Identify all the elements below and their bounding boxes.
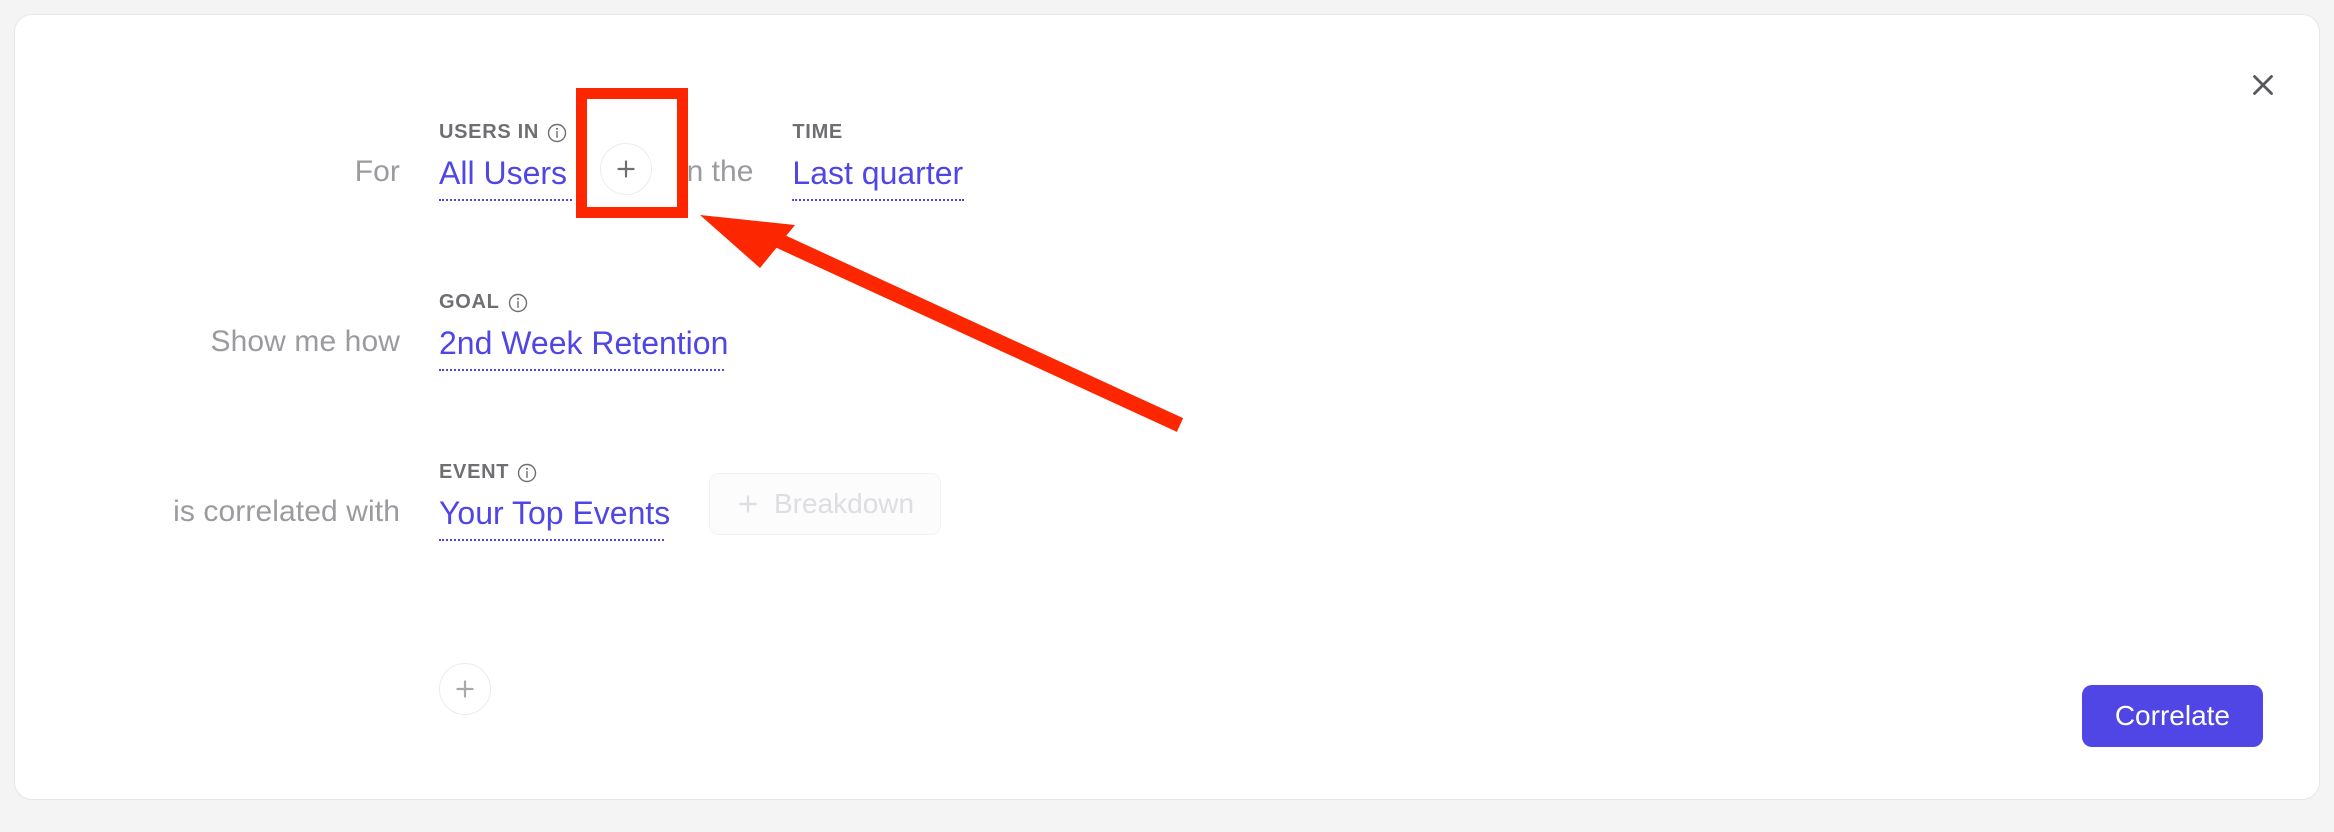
add-breakdown-button[interactable]: Breakdown [709, 473, 941, 535]
field-label-event: EVENT [439, 461, 664, 484]
field-label-time: TIME [792, 121, 964, 144]
field-label-users-in: USERS IN [439, 121, 572, 144]
field-label-goal: GOAL [439, 291, 724, 314]
field-goal: GOAL 2nd Week Retention [439, 291, 724, 371]
field-event: EVENT Your Top Events [439, 461, 664, 541]
query-rows: For USERS IN All Users [15, 93, 2319, 603]
field-label-text: USERS IN [439, 121, 539, 144]
connector-in-the: in the [680, 155, 753, 201]
correlation-query-card: For USERS IN All Users [14, 14, 2320, 800]
add-query-row-button[interactable] [439, 663, 491, 715]
plus-icon [453, 677, 477, 701]
query-row-users: For USERS IN All Users [15, 93, 2319, 201]
add-cohort-filter-plus-button[interactable] [600, 143, 652, 195]
event-value[interactable]: Your Top Events [439, 495, 664, 541]
users-in-value[interactable]: All Users [439, 155, 572, 201]
app-root: For USERS IN All Users [0, 0, 2334, 832]
field-label-text: TIME [792, 121, 843, 144]
query-row-goal: Show me how GOAL 2nd Week Retention [15, 263, 2319, 371]
add-breakdown-label: Breakdown [774, 488, 914, 520]
info-icon[interactable] [508, 293, 528, 313]
row-prefix-for: For [15, 155, 400, 201]
plus-icon [736, 492, 760, 516]
add-query-row-slot [439, 663, 491, 715]
query-row-event: is correlated with EVENT Your Top Event [15, 433, 2319, 541]
row-prefix-show-me-how: Show me how [15, 325, 400, 371]
time-value[interactable]: Last quarter [792, 155, 964, 201]
info-icon[interactable] [547, 123, 567, 143]
field-users-in: USERS IN All Users [439, 121, 572, 201]
add-cohort-filter-slot [600, 143, 652, 195]
field-label-text: EVENT [439, 461, 509, 484]
plus-icon [614, 157, 638, 181]
goal-value[interactable]: 2nd Week Retention [439, 325, 724, 371]
field-time: TIME Last quarter [792, 121, 964, 201]
correlate-button[interactable]: Correlate [2082, 685, 2263, 747]
field-label-text: GOAL [439, 291, 500, 314]
row-prefix-is-correlated-with: is correlated with [15, 495, 400, 541]
info-icon[interactable] [517, 463, 537, 483]
